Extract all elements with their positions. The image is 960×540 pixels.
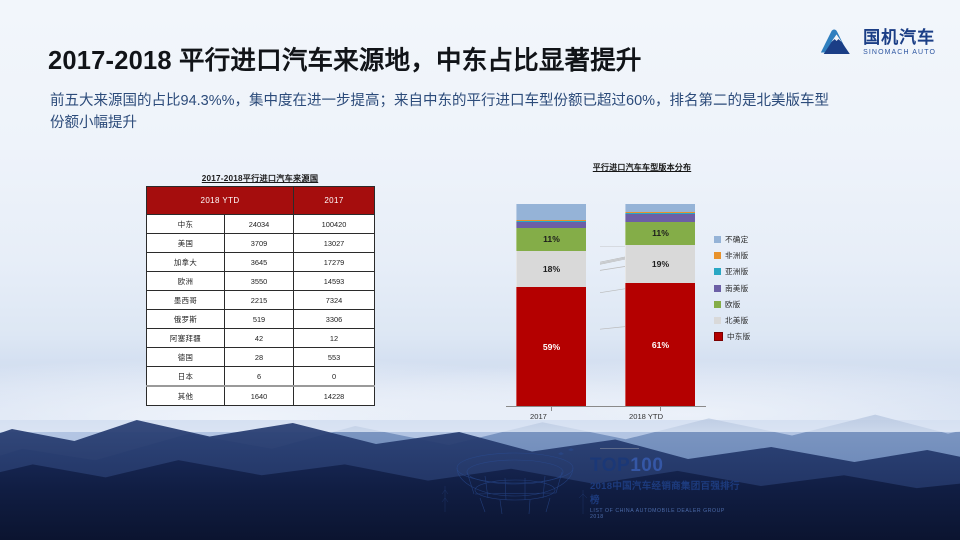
legend-item-非洲版[interactable]: 非洲版 [714,250,750,261]
footer-top-num: 100 [630,455,663,476]
axis-tick [551,407,552,411]
value-2017-cell: 100420 [294,215,375,234]
legend-swatch-icon [714,332,723,341]
footer-top-t: T [590,455,602,476]
chart-title: 平行进口汽车车型版本分布 [492,162,792,173]
segment-value-label: 61% [652,341,669,350]
country-cell: 阿塞拜疆 [147,329,225,348]
table-title: 2017-2018平行进口汽车来源国 [146,172,374,184]
legend-label: 亚洲版 [725,266,748,277]
country-cell: 中东 [147,215,225,234]
sinomach-mountain-icon [818,26,856,58]
value-2018-cell: 3709 [225,234,294,253]
bar-2018: 11%19%61% [625,204,695,407]
country-cell: 墨西哥 [147,291,225,310]
background-mist [0,330,960,420]
table-header-row: 2018 YTD 2017 [147,187,375,215]
segment-value-label: 11% [652,229,669,238]
legend-item-不确定[interactable]: 不确定 [714,234,750,245]
bar-segment-中东版: 61% [625,283,695,407]
page-subtitle: 前五大来源国的占比94.3%%，集中度在进一步提高；来自中东的平行进口车型份额已… [50,90,840,135]
stadium-illustration-icon [440,446,590,518]
footer-emblem: TOP100 2018中国汽车经销商集团百强排行榜 LIST OF CHINA … [440,438,740,534]
table-row: 美国370913027 [147,234,375,253]
table-row: 欧洲355014593 [147,272,375,291]
table-row: 其他164014228 [147,386,375,406]
mountain-ridge-mid [0,390,960,540]
country-cell: 加拿大 [147,253,225,272]
table-row: 中东24034100420 [147,215,375,234]
bar-segment-不确定 [625,204,695,212]
country-cell: 美国 [147,234,225,253]
bar-segment-中东版: 59% [516,287,586,407]
value-2018-cell: 3645 [225,253,294,272]
table-header-2017: 2017 [294,187,375,215]
axis-tick [660,407,661,411]
footer-subtitle-en: LIST OF CHINA AUTOMOBILE DEALER GROUP 20… [590,508,740,520]
chart-plot-area: 11%18%59% 11%19%61% [506,204,706,407]
table-header-2018: 2018 YTD [147,187,294,215]
logo-text-cn: 国机汽车 [863,29,936,46]
legend-item-北美版[interactable]: 北美版 [714,315,750,326]
legend-label: 欧版 [725,299,741,310]
legend-swatch-icon [714,285,721,292]
segment-value-label: 18% [543,265,560,274]
footer-text-block: TOP100 2018中国汽车经销商集团百强排行榜 LIST OF CHINA … [590,456,740,520]
country-cell: 俄罗斯 [147,310,225,329]
footer-top100: TOP100 [590,456,740,475]
table-row: 加拿大364517279 [147,253,375,272]
legend-label: 北美版 [725,315,748,326]
bar-segment-欧版: 11% [516,228,586,250]
bar-segment-北美版: 19% [625,245,695,284]
chart-legend: 不确定非洲版亚洲版南美版欧版北美版中东版 [714,234,750,342]
legend-item-南美版[interactable]: 南美版 [714,283,750,294]
legend-item-欧版[interactable]: 欧版 [714,299,750,310]
bar-segment-北美版: 18% [516,251,586,288]
table-row: 日本60 [147,367,375,387]
x-label-2017: 2017 [530,412,547,421]
legend-item-亚洲版[interactable]: 亚洲版 [714,266,750,277]
x-label-2018: 2018 YTD [629,412,663,421]
table-body: 中东24034100420美国370913027加拿大364517279欧洲35… [147,215,375,406]
value-2017-cell: 13027 [294,234,375,253]
segment-value-label: 11% [543,235,560,244]
legend-label: 非洲版 [725,250,748,261]
country-cell: 其他 [147,386,225,406]
segment-value-label: 59% [543,343,560,352]
country-cell: 欧洲 [147,272,225,291]
brand-logo: 国机汽车 SINOMACH AUTO [818,26,936,58]
logo-text-en: SINOMACH AUTO [863,49,936,56]
value-2018-cell: 3550 [225,272,294,291]
legend-swatch-icon [714,252,721,259]
value-2018-cell: 42 [225,329,294,348]
legend-label: 南美版 [725,283,748,294]
table-row: 德国28553 [147,348,375,367]
value-2018-cell: 24034 [225,215,294,234]
value-2017-cell: 14228 [294,386,375,406]
country-cell: 德国 [147,348,225,367]
page-title: 2017-2018 平行进口汽车来源地，中东占比显著提升 [48,40,642,77]
footer-subtitle-cn: 2018中国汽车经销商集团百强排行榜 [590,478,740,506]
value-2017-cell: 0 [294,367,375,387]
slide-canvas: 国机汽车 SINOMACH AUTO 2017-2018 平行进口汽车来源地，中… [0,0,960,540]
value-2018-cell: 519 [225,310,294,329]
legend-swatch-icon [714,268,721,275]
version-distribution-chart: 平行进口汽车车型版本分布 11%18%59% 11%19%61% 2017 20… [492,162,792,447]
value-2018-cell: 6 [225,367,294,387]
table-row: 俄罗斯5193306 [147,310,375,329]
country-cell: 日本 [147,367,225,387]
legend-label: 不确定 [725,234,748,245]
bar-segment-欧版: 11% [625,222,695,244]
legend-swatch-icon [714,236,721,243]
value-2018-cell: 28 [225,348,294,367]
value-2017-cell: 3306 [294,310,375,329]
value-2017-cell: 7324 [294,291,375,310]
value-2018-cell: 1640 [225,386,294,406]
value-2018-cell: 2215 [225,291,294,310]
source-country-table-block: 2017-2018平行进口汽车来源国 2018 YTD 2017 中东24034… [146,172,374,406]
value-2017-cell: 17279 [294,253,375,272]
segment-value-label: 19% [652,260,669,269]
legend-item-中东版[interactable]: 中东版 [714,331,750,342]
bar-2017: 11%18%59% [516,204,586,407]
value-2017-cell: 553 [294,348,375,367]
table-row: 墨西哥22157324 [147,291,375,310]
value-2017-cell: 12 [294,329,375,348]
mountain-ridge-far [0,350,960,540]
mountain-ridge-near [0,432,960,540]
legend-swatch-icon [714,301,721,308]
bar-segment-南美版 [625,214,695,222]
legend-label: 中东版 [727,331,750,342]
table-row: 阿塞拜疆4212 [147,329,375,348]
chart-x-axis [506,406,706,407]
bar-segment-不确定 [516,204,586,220]
legend-swatch-icon [714,317,721,324]
footer-top-op: OP [602,455,630,476]
value-2017-cell: 14593 [294,272,375,291]
background-haze [0,362,960,432]
source-country-table: 2018 YTD 2017 中东24034100420美国370913027加拿… [146,186,375,406]
